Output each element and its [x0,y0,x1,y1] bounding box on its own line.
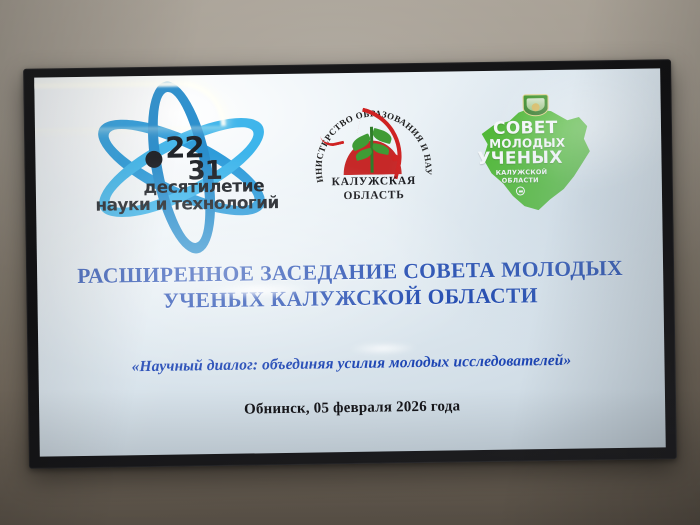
council-of-young-scientists-logo: СОВЕТ МОЛОДЫХ УЧЕНЫХ КАЛУЖСКОЙ ОБЛАСТИ [471,93,601,215]
wall-mounted-television: 22 31 десятилетие науки и технологий МИН [23,59,677,469]
ministry-region-name: КАЛУЖСКАЯ ОБЛАСТЬ [304,174,444,204]
coat-of-arms-bird-icon [532,103,540,111]
presentation-slide: 22 31 десятилетие науки и технологий МИН [34,68,666,456]
logo-row: 22 31 десятилетие науки и технологий МИН [34,84,662,219]
coat-of-arms-field [527,98,545,111]
coat-of-arms-icon [523,94,549,116]
council-emblem-mark-icon [516,186,525,195]
decade-of-science-logo: 22 31 десятилетие науки и технологий [83,112,281,223]
atom-nucleus-icon [145,151,162,168]
slide-subtitle: «Научный диалог: объединяя усилия молоды… [72,351,630,378]
red-swoosh-dot-icon [391,154,398,161]
decade-label-line-2: науки и технологий [92,195,282,215]
slide-place-and-date: Обнинск, 05 февраля 2026 года [73,395,631,421]
slide-title: РАСШИРЕННОЕ ЗАСЕДАНИЕ СОВЕТА МОЛОДЫХ УЧЕ… [71,255,630,316]
council-label-line-3: УЧЕНЫХ [477,150,562,168]
tv-screen: 22 31 десятилетие науки и технологий МИН [34,68,666,456]
ministry-logo: МИНИСТЕРСТВО ОБРАЗОВАНИЯ И НАУКИ [303,96,445,220]
council-label-line-5: ОБЛАСТИ [502,177,539,184]
council-label-line-4: КАЛУЖСКОЙ [496,169,548,176]
ministry-region-line-2: ОБЛАСТЬ [304,188,444,204]
